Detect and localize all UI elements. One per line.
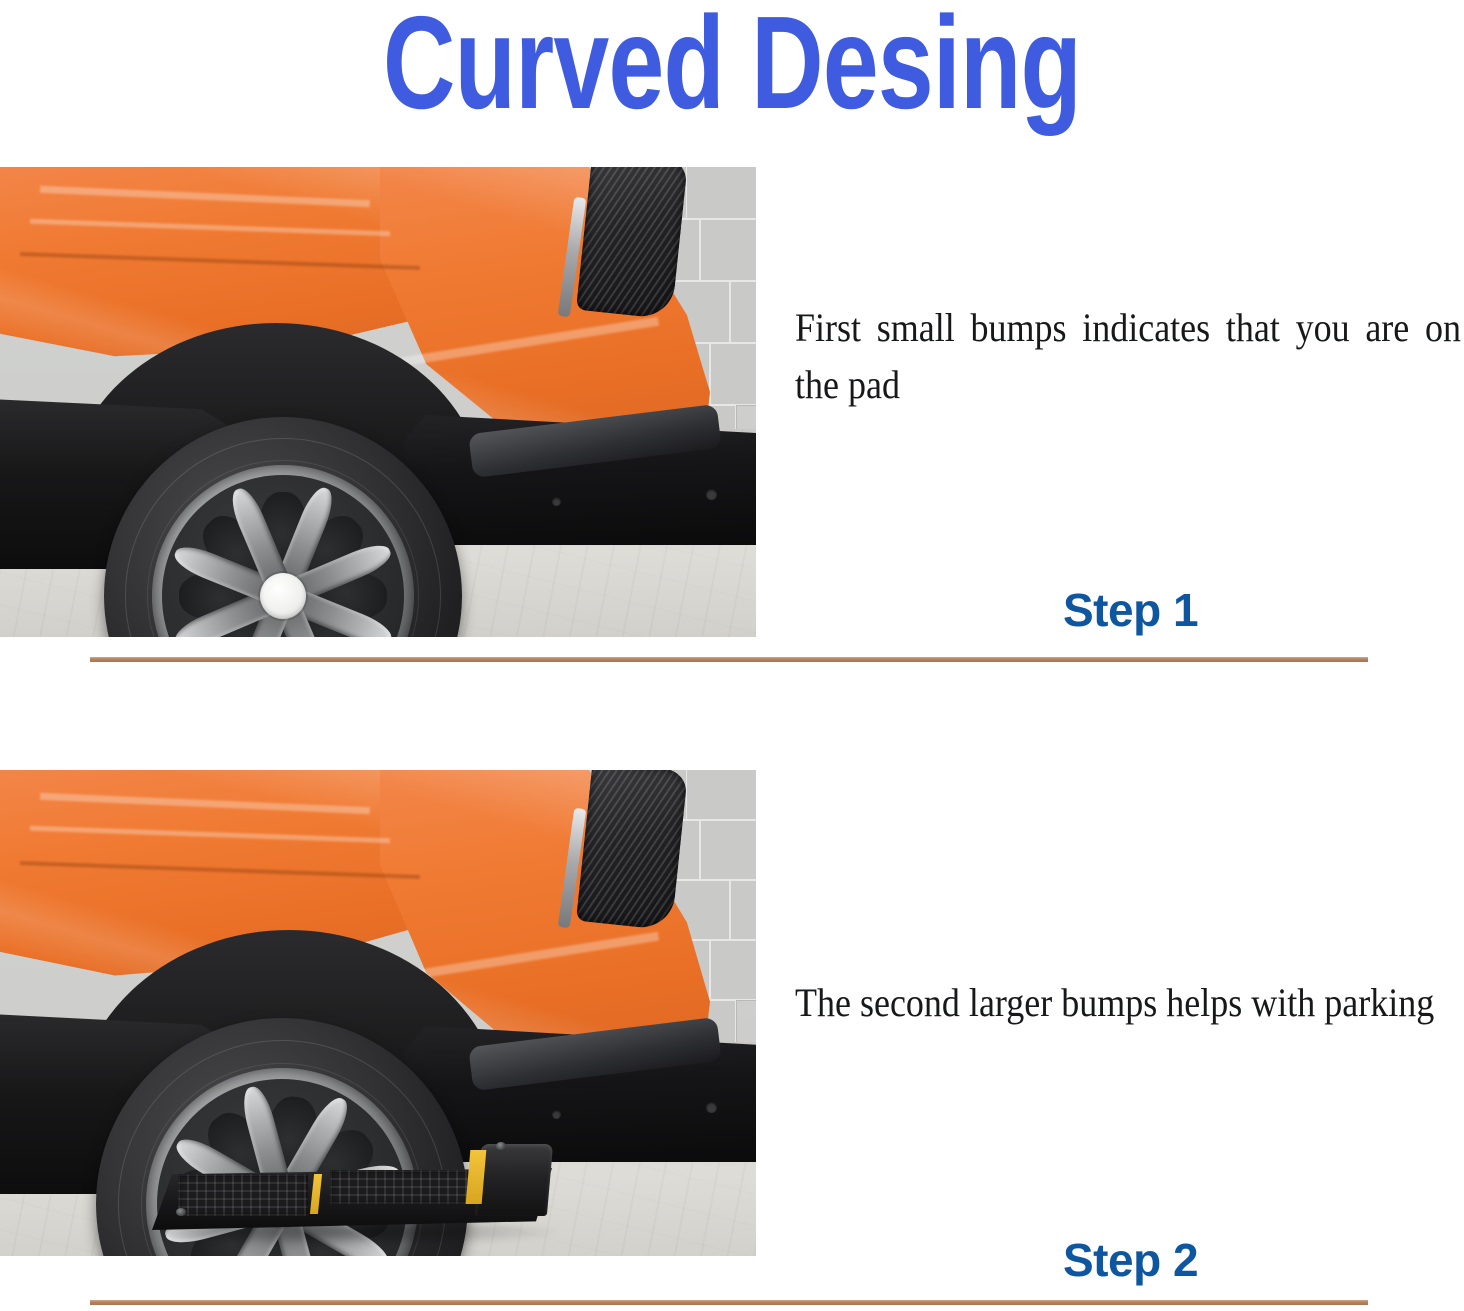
bumper-sensor [552,497,561,506]
wheel-hub-cap [260,573,306,619]
step-1-photo [0,167,756,637]
section-divider [90,1300,1368,1305]
brick [686,770,756,821]
step-2-label: Step 2 [1063,1233,1198,1287]
tail-light [576,770,688,931]
parking-pad-bump-large [475,1144,553,1216]
step-2-photo [0,770,756,1256]
brick [700,219,756,282]
brick [730,880,756,941]
bumper-sensor [706,489,717,500]
bumper-sensor [706,1102,717,1113]
brick [710,940,756,1001]
step-2-paragraph: The second larger bumps helps with parki… [795,975,1461,1032]
section-divider [90,657,1368,662]
brick [730,281,756,344]
step-1-paragraph: First small bumps indicates that you are… [795,300,1461,414]
bumper-sensor [552,1110,561,1119]
parking-pad-bolt [496,1142,506,1150]
brick [686,167,756,220]
page-title: Curved Desing [176,0,1289,142]
brick [700,820,756,881]
parking-pad-grid [178,1174,308,1216]
brick [710,343,756,406]
tail-light [576,167,688,320]
parking-pad-bolt [176,1208,186,1216]
step-1-label: Step 1 [1063,583,1198,637]
